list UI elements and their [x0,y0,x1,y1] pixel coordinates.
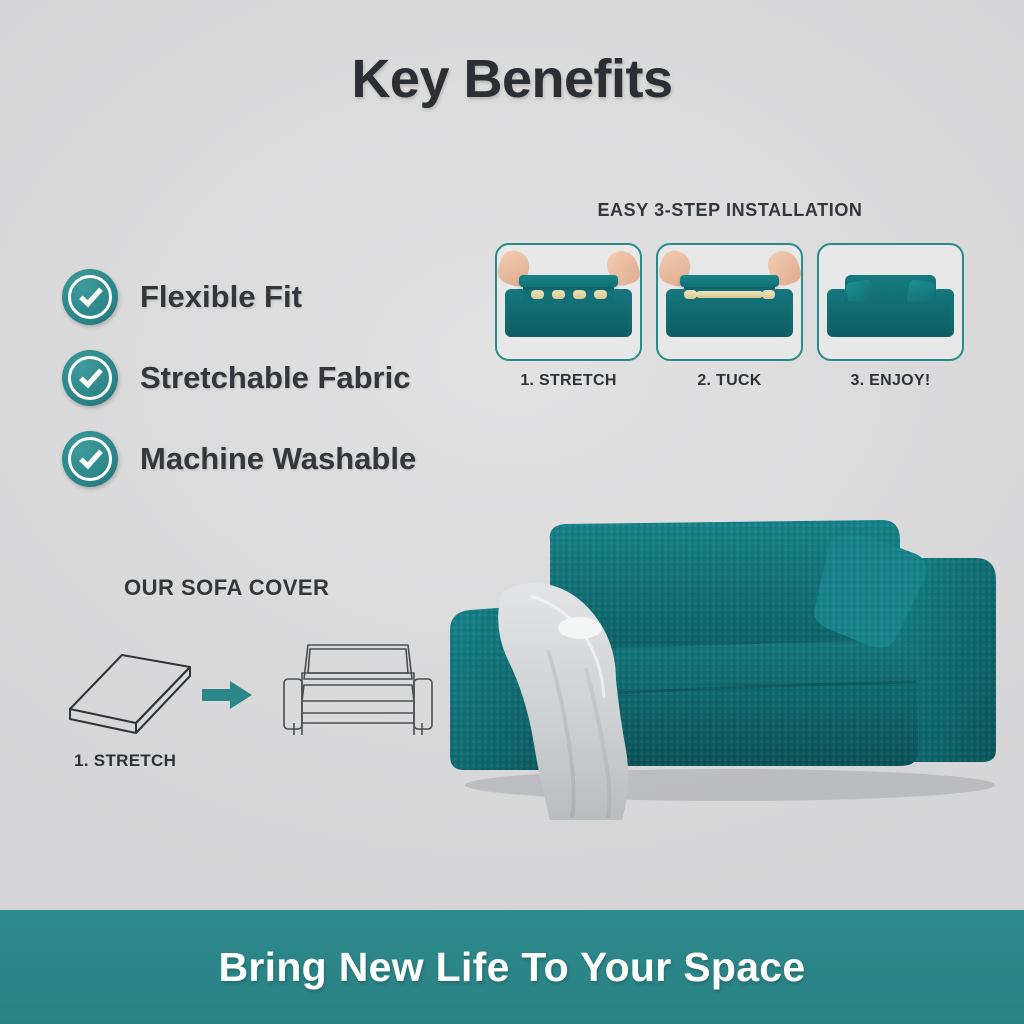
banner-text: Bring New Life To Your Space [218,944,805,991]
benefit-item: Flexible Fit [62,268,462,326]
installation-heading: EASY 3-STEP INSTALLATION [495,200,965,221]
benefit-label: Machine Washable [140,441,416,477]
folded-fabric-icon [70,655,190,733]
install-step: 2. TUCK [656,243,803,390]
benefit-item: Machine Washable [62,430,462,488]
installation-steps: 1. STRETCH 2. TUCK [495,243,965,390]
lineart-diagram [62,623,442,743]
arrow-right-icon [202,681,252,709]
installation-section: EASY 3-STEP INSTALLATION [495,200,965,390]
lineart-caption: 1. STRETCH [62,751,462,771]
benefit-item: Stretchable Fabric [62,349,462,407]
install-step-image-stretch [495,243,642,361]
install-step-caption: 1. STRETCH [495,372,642,390]
benefit-label: Stretchable Fabric [140,360,410,396]
page-title: Key Benefits [0,48,1024,110]
sofa-outline-icon [284,645,432,735]
lineart-section: OUR SOFA COVER [62,575,462,771]
install-step-caption: 2. TUCK [656,372,803,390]
check-circle-icon [62,431,118,487]
hero-sofa-image [430,500,1010,820]
check-circle-icon [62,350,118,406]
install-step-caption: 3. ENJOY! [817,372,964,390]
bottom-banner: Bring New Life To Your Space [0,910,1024,1024]
product-infographic: Key Benefits Flexible Fit Stretchable Fa… [0,0,1024,1024]
install-step-image-tuck [656,243,803,361]
benefits-list: Flexible Fit Stretchable Fabric Machine … [62,268,462,511]
install-step: 3. ENJOY! [817,243,964,390]
install-step: 1. STRETCH [495,243,642,390]
lineart-heading: OUR SOFA COVER [62,575,462,601]
check-circle-icon [62,269,118,325]
install-step-image-enjoy [817,243,964,361]
benefit-label: Flexible Fit [140,279,302,315]
